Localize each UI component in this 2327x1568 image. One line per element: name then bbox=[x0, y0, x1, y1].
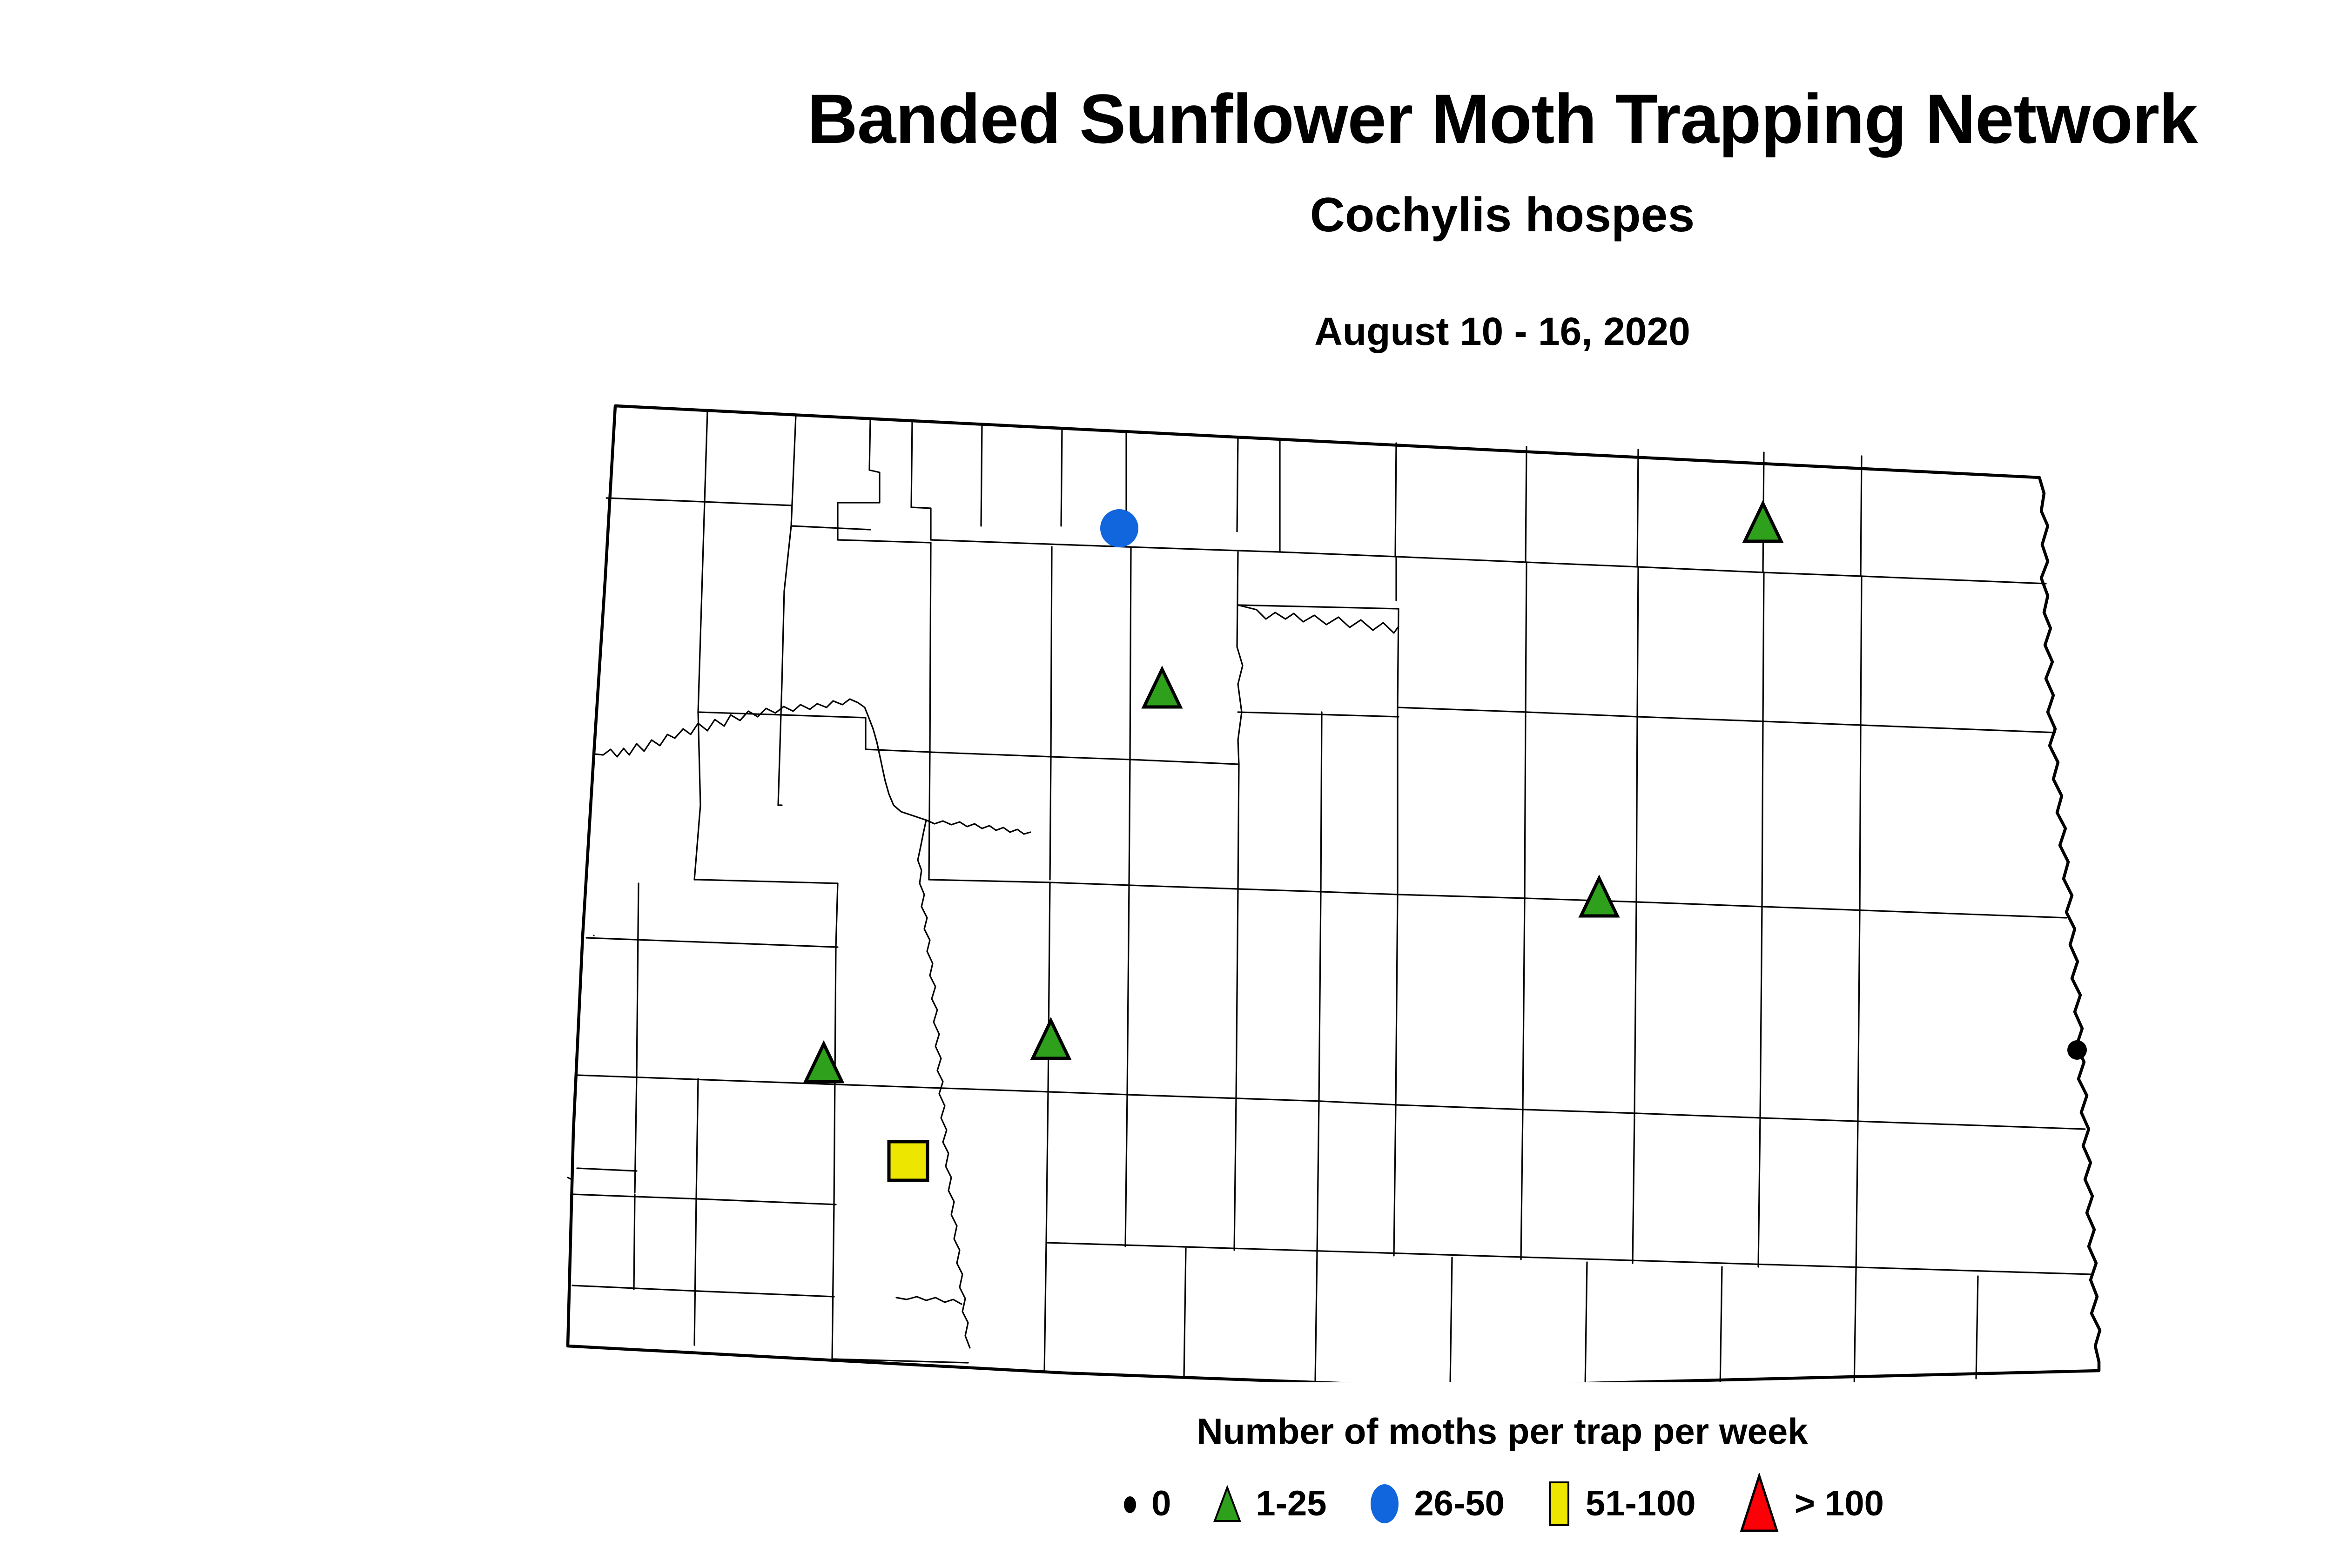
lake-sakakawea-outline bbox=[594, 699, 926, 820]
map-marker-green-triangle[interactable] bbox=[1581, 878, 1617, 916]
legend-green-triangle-icon bbox=[1211, 1484, 1244, 1524]
legend-red-triangle-icon bbox=[1736, 1473, 1782, 1534]
legend-item-4[interactable]: > 100 bbox=[1736, 1473, 1884, 1534]
legend: 0 1-25 26-50 51-100 > 100 bbox=[0, 1473, 2327, 1534]
legend-item-2[interactable]: 26-50 bbox=[1367, 1481, 1505, 1527]
legend-yellow-square-icon bbox=[1545, 1479, 1574, 1529]
legend-blue-circle-icon bbox=[1367, 1481, 1402, 1527]
map-marker-yellow-square[interactable] bbox=[889, 1142, 928, 1180]
legend-item-0[interactable]: 0 bbox=[1121, 1486, 1171, 1521]
map-page: Banded Sunflower Moth Trapping Network C… bbox=[0, 0, 2327, 1568]
species-subtitle: Cochylis hospes bbox=[0, 191, 2327, 239]
map-marker-green-triangle[interactable] bbox=[1144, 669, 1180, 707]
map-marker-green-triangle[interactable] bbox=[806, 1044, 842, 1082]
page-title: Banded Sunflower Moth Trapping Network bbox=[0, 84, 2327, 154]
state-outline bbox=[568, 406, 2100, 1382]
devils-lake-outline bbox=[1238, 605, 1399, 633]
legend-label-3: 51-100 bbox=[1586, 1486, 1696, 1521]
date-range-label: August 10 - 16, 2020 bbox=[0, 312, 2327, 351]
legend-label-4: > 100 bbox=[1795, 1486, 1884, 1521]
map-marker-black-dot[interactable] bbox=[2067, 1040, 2087, 1060]
map-marker-green-triangle[interactable] bbox=[1745, 504, 1781, 541]
legend-item-1[interactable]: 1-25 bbox=[1211, 1484, 1326, 1524]
north-dakota-county-map[interactable] bbox=[512, 386, 2197, 1382]
lake-audubon-outline bbox=[926, 820, 1030, 834]
map-marker-blue-circle[interactable] bbox=[1101, 510, 1138, 547]
missouri-river bbox=[918, 820, 970, 1348]
legend-dot-icon bbox=[1121, 1491, 1139, 1517]
legend-title: Number of moths per trap per week bbox=[0, 1410, 2327, 1453]
legend-label-0: 0 bbox=[1151, 1486, 1171, 1521]
map-marker-green-triangle[interactable] bbox=[1033, 1021, 1069, 1058]
legend-label-1: 1-25 bbox=[1256, 1486, 1326, 1521]
heart-river bbox=[896, 1297, 962, 1304]
legend-label-2: 26-50 bbox=[1414, 1486, 1505, 1521]
legend-item-3[interactable]: 51-100 bbox=[1545, 1479, 1696, 1529]
